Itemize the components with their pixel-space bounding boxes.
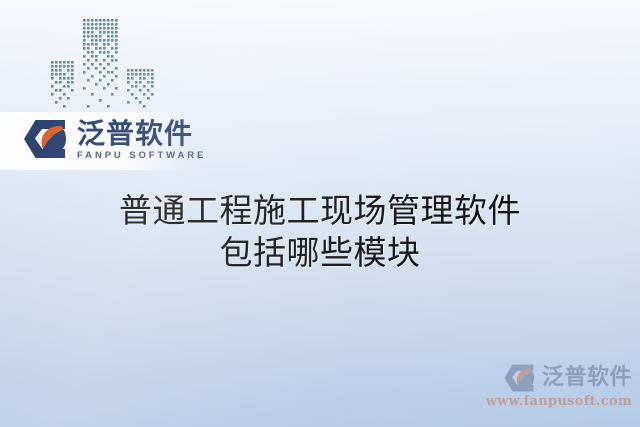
watermark-url: www.fanpusoft.com [480,394,632,409]
slide-canvas: 泛普软件 FANPU SOFTWARE 普通工程施工现场管理软件 包括哪些模块 … [0,0,640,427]
page-title-line-1: 普通工程施工现场管理软件 [0,190,640,232]
pixel-city-skyline-icon [46,14,158,116]
watermark-name-cn: 泛普软件 [542,366,632,390]
fanpu-emblem-watermark-icon [503,363,537,393]
logo-name-en: FANPU SOFTWARE [77,150,206,162]
logo-wordmark: 泛普软件 FANPU SOFTWARE [77,118,206,162]
watermark-logo-row: 泛普软件 [480,363,632,393]
company-logo: 泛普软件 FANPU SOFTWARE [22,118,206,162]
page-title: 普通工程施工现场管理软件 包括哪些模块 [0,190,640,274]
watermark: 泛普软件 www.fanpusoft.com [480,363,632,409]
page-title-line-2: 包括哪些模块 [0,232,640,274]
logo-name-cn: 泛普软件 [77,119,206,149]
fanpu-emblem-icon [22,118,70,160]
